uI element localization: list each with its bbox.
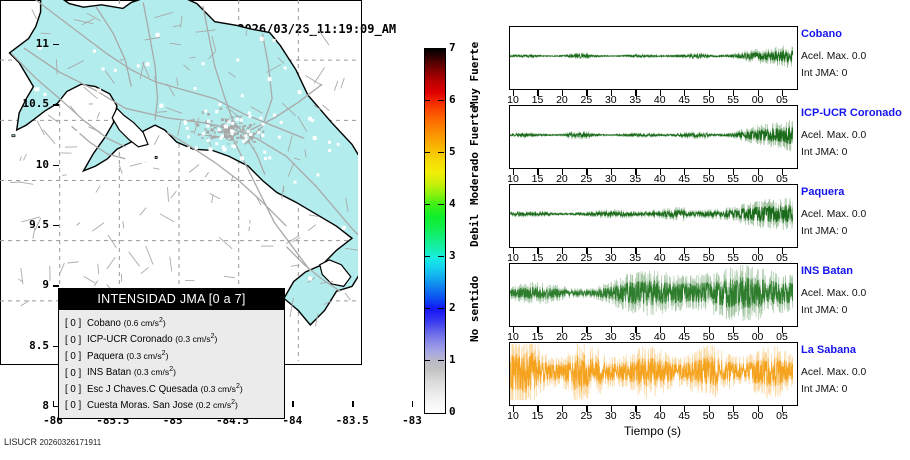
map-urban-cell <box>211 137 214 139</box>
map-station-marker[interactable] <box>206 244 210 248</box>
map-station-marker[interactable] <box>219 199 223 203</box>
map-urban-cell <box>253 141 256 143</box>
legend-intensity-index: [ 0 ] <box>65 334 87 347</box>
map-station-marker[interactable] <box>215 110 218 113</box>
seismogram-panel[interactable] <box>509 342 798 406</box>
legend-title: INTENSIDAD JMA [0 a 7] <box>59 289 284 310</box>
map-road <box>171 191 176 198</box>
map-station-marker[interactable] <box>218 103 221 106</box>
legend-station-row: [ 0 ]INS Batan (0.3 cm/s2) <box>65 363 278 379</box>
colorbar-tick-mark <box>438 360 444 361</box>
map-station-marker[interactable] <box>253 14 256 17</box>
map-urban-cell <box>232 137 234 140</box>
map-urban-cell <box>221 118 224 121</box>
colorbar-tick-label: 1 <box>449 353 456 366</box>
colorbar-category-label: Fuerte <box>468 107 481 147</box>
map-road <box>98 264 99 275</box>
map-y-tick-mark <box>53 165 59 166</box>
map-urban-cell <box>227 144 229 145</box>
map-station-marker[interactable] <box>172 240 176 244</box>
map-road <box>219 237 232 249</box>
map-station-marker[interactable] <box>202 194 205 197</box>
seismogram-trace <box>510 343 793 401</box>
map-station-marker[interactable] <box>220 137 223 140</box>
map-road <box>41 33 51 34</box>
map-urban-cell <box>235 116 238 117</box>
map-urban-cell <box>225 130 228 132</box>
map-station-marker[interactable] <box>222 145 225 148</box>
map-station-marker[interactable] <box>291 37 295 41</box>
map-station-marker[interactable] <box>308 117 312 121</box>
map-urban-cell <box>247 127 250 129</box>
map-road <box>318 30 329 46</box>
map-station-marker[interactable] <box>187 147 190 150</box>
legend-paren-close: ) <box>215 335 218 345</box>
map-urban-cell <box>190 120 193 122</box>
map-station-marker[interactable] <box>280 121 283 124</box>
seismogram-station-name[interactable]: Cobano <box>801 28 842 40</box>
legend-acceleration: (0.3 cm/s <box>134 368 169 378</box>
seismogram-jma-intensity: Int JMA: 0 <box>801 226 847 237</box>
map-road <box>108 235 116 248</box>
map-station-marker[interactable] <box>146 62 150 66</box>
seismogram-max-acceleration: Acel. Max. 0.0 <box>801 288 866 299</box>
map-urban-cell <box>197 135 200 136</box>
map-station-marker[interactable] <box>181 177 185 181</box>
map-urban-cell <box>230 125 232 128</box>
colorbar-tick-mark <box>424 256 430 257</box>
map-station-marker[interactable] <box>337 143 340 146</box>
colorbar-tick-mark <box>438 256 444 257</box>
map-urban-cell <box>234 125 236 127</box>
seismogram-panel[interactable] <box>509 263 798 327</box>
seismogram-jma-intensity: Int JMA: 0 <box>801 305 847 316</box>
map-station-marker[interactable] <box>247 16 250 19</box>
map-urban-cell <box>231 117 234 119</box>
map-y-tick-mark <box>53 225 59 226</box>
legend-paren-close: ) <box>173 368 176 378</box>
map-station-marker[interactable] <box>263 151 266 154</box>
map-station-marker[interactable] <box>125 268 129 272</box>
map-station-marker[interactable] <box>195 147 198 150</box>
map-island <box>155 156 157 158</box>
map-station-marker[interactable] <box>131 128 134 131</box>
legend-station-row: [ 0 ]Cobano (0.6 cm/s2) <box>65 314 278 330</box>
map-urban-cell <box>228 135 229 137</box>
map-station-marker[interactable] <box>242 140 245 143</box>
seismogram-jma-intensity: Int JMA: 0 <box>801 384 847 395</box>
map-urban-cell <box>225 132 228 133</box>
map-urban-cell <box>202 111 204 114</box>
map-station-marker[interactable] <box>44 93 47 96</box>
map-urban-cell <box>253 133 255 135</box>
seismogram-max-acceleration: Acel. Max. 0.0 <box>801 367 866 378</box>
map-station-marker[interactable] <box>204 110 207 113</box>
legend-station-row: [ 0 ]Cuesta Moras. San Jose (0.2 cm/s2) <box>65 396 278 412</box>
map-station-marker[interactable] <box>328 149 331 152</box>
map-road <box>308 225 316 231</box>
map-station-marker[interactable] <box>156 33 160 37</box>
legend-station-name: Cuesta Moras. San Jose <box>87 400 196 411</box>
map-station-marker[interactable] <box>268 156 271 159</box>
map-urban-cell <box>251 138 253 141</box>
map-road <box>224 276 235 278</box>
map-station-marker[interactable] <box>264 157 267 160</box>
map-urban-cell <box>214 131 216 134</box>
map-station-marker[interactable] <box>93 50 96 53</box>
map-road <box>123 221 124 228</box>
map-road <box>92 223 104 231</box>
seismogram-time-axis: 101520253035404550550005 <box>509 169 796 185</box>
map-urban-cell <box>220 108 223 110</box>
map-urban-cell <box>228 139 230 140</box>
map-station-marker[interactable] <box>247 130 250 133</box>
map-urban-cell <box>262 131 264 133</box>
map-station-marker[interactable] <box>342 226 346 230</box>
map-station-marker[interactable] <box>78 206 81 209</box>
map-station-marker[interactable] <box>36 140 39 143</box>
map-station-marker[interactable] <box>338 45 341 48</box>
legend-station-name: INS Batan <box>87 368 134 379</box>
legend-station-name: Esc J Chaves.C Quesada <box>87 384 201 395</box>
map-urban-cell <box>243 129 245 132</box>
seismogram-panel[interactable] <box>509 105 798 169</box>
map-station-marker[interactable] <box>241 94 244 97</box>
map-road <box>140 208 147 216</box>
map-station-marker[interactable] <box>209 147 213 151</box>
map-station-marker[interactable] <box>278 136 281 139</box>
map-station-marker[interactable] <box>328 141 331 144</box>
map-station-marker[interactable] <box>236 118 239 121</box>
map-road <box>107 257 116 269</box>
map-urban-cell <box>234 143 235 144</box>
map-station-marker[interactable] <box>284 249 287 252</box>
map-station-marker[interactable] <box>202 62 205 65</box>
colorbar-tick-mark <box>424 100 430 101</box>
colorbar-tick-mark <box>438 152 444 153</box>
map-urban-cell <box>201 137 204 138</box>
map-station-marker[interactable] <box>34 87 38 91</box>
map-station-marker[interactable] <box>73 269 77 273</box>
map-station-marker[interactable] <box>236 59 239 62</box>
seismogram-trace <box>510 27 793 85</box>
legend-intensity-index: [ 0 ] <box>65 350 87 363</box>
map-x-tick-label: -83.5 <box>322 414 382 427</box>
map-road <box>210 193 221 199</box>
map-station-marker[interactable] <box>298 90 302 94</box>
map-station-marker[interactable] <box>294 181 297 184</box>
map-urban-cell <box>207 113 210 116</box>
map-station-marker[interactable] <box>215 142 218 145</box>
legend-paren-close: ) <box>240 384 243 394</box>
map-road <box>129 252 140 266</box>
map-urban-cell <box>209 135 212 137</box>
seismogram-panel[interactable] <box>509 184 798 248</box>
map-urban-cell <box>213 136 216 139</box>
seismogram-time-axis: 101520253035404550550005 <box>509 90 796 106</box>
map-urban-cell <box>236 137 239 139</box>
map-station-marker[interactable] <box>207 139 210 142</box>
seismogram-max-acceleration: Acel. Max. 0.0 <box>801 130 866 141</box>
seismogram-jma-intensity: Int JMA: 0 <box>801 68 847 79</box>
seismogram-station-name[interactable]: ICP-UCR Coronado <box>801 107 902 119</box>
map-station-marker[interactable] <box>248 224 251 227</box>
map-station-marker[interactable] <box>302 27 305 30</box>
map-urban-cell <box>206 131 209 134</box>
map-road <box>205 172 209 177</box>
map-station-marker[interactable] <box>260 117 263 120</box>
seismogram-time-axis: 101520253035404550550005 <box>509 248 796 264</box>
map-station-marker[interactable] <box>262 123 265 126</box>
legend-acceleration: (0.3 cm/s <box>201 384 236 394</box>
map-urban-cell <box>242 132 244 133</box>
map-road <box>160 214 174 222</box>
map-urban-cell <box>222 129 225 131</box>
time-axis-label: Tiempo (s) <box>509 424 796 438</box>
map-urban-cell <box>210 124 213 127</box>
map-station-marker[interactable] <box>248 112 251 115</box>
map-station-marker[interactable] <box>240 156 244 160</box>
map-station-marker[interactable] <box>106 172 109 175</box>
map-station-marker[interactable] <box>249 133 252 136</box>
map-road <box>293 238 300 242</box>
map-y-tick-label: 9 <box>0 278 49 291</box>
map-station-marker[interactable] <box>257 131 260 134</box>
map-road <box>154 135 159 145</box>
map-urban-cell <box>229 135 230 137</box>
seismogram-max-acceleration: Acel. Max. 0.0 <box>801 209 866 220</box>
map-station-marker[interactable] <box>249 115 252 118</box>
map-x-tick-label: -83 <box>382 414 442 427</box>
map-urban-cell <box>205 128 207 130</box>
map-station-marker[interactable] <box>206 208 209 211</box>
map-station-marker[interactable] <box>76 131 80 135</box>
map-station-marker[interactable] <box>308 277 312 281</box>
map-station-marker[interactable] <box>43 116 46 119</box>
intensity-legend: INTENSIDAD JMA [0 a 7] [ 0 ]Cobano (0.6 … <box>58 288 285 419</box>
map-station-marker[interactable] <box>224 124 228 128</box>
map-urban-cell <box>224 135 226 136</box>
map-urban-cell <box>193 119 195 121</box>
map-station-marker[interactable] <box>206 125 209 128</box>
map-station-marker[interactable] <box>312 36 315 39</box>
map-station-marker[interactable] <box>202 132 205 135</box>
legend-intensity-index: [ 0 ] <box>65 383 87 396</box>
map-station-marker[interactable] <box>273 39 276 42</box>
colorbar-tick-mark <box>438 204 444 205</box>
map-urban-cell <box>245 133 247 134</box>
colorbar-tick-label: 5 <box>449 145 456 158</box>
map-station-marker[interactable] <box>335 114 338 117</box>
map-island <box>12 135 15 137</box>
map-urban-cell <box>239 123 243 124</box>
map-urban-cell <box>221 124 223 126</box>
map-urban-cell <box>236 126 238 129</box>
map-station-marker[interactable] <box>284 204 287 207</box>
seismogram-station-name[interactable]: La Sabana <box>801 344 856 356</box>
map-y-tick-label: 10 <box>0 158 49 171</box>
colorbar-tick-label: 6 <box>449 93 456 106</box>
legend-acceleration: (0.3 cm/s <box>126 351 161 361</box>
seismogram-trace <box>510 185 793 243</box>
map-urban-cell <box>229 117 230 118</box>
map-urban-cell <box>253 147 254 148</box>
legend-station-row: [ 0 ]ICP-UCR Coronado (0.3 cm/s2) <box>65 330 278 346</box>
map-station-marker[interactable] <box>268 77 272 81</box>
map-station-marker[interactable] <box>184 120 187 123</box>
seismogram-panel[interactable] <box>509 26 798 90</box>
map-station-marker[interactable] <box>142 162 145 165</box>
map-station-marker[interactable] <box>159 104 163 108</box>
legend-station-name: Cobano <box>87 318 124 329</box>
map-station-marker[interactable] <box>245 138 248 141</box>
map-station-marker[interactable] <box>316 173 319 176</box>
seismogram-station-name[interactable]: INS Batan <box>801 265 853 277</box>
map-y-tick-label: 10.5 <box>0 97 49 110</box>
map-road <box>88 127 100 133</box>
map-road <box>68 262 79 263</box>
footer-timestamp: 20260326171911 <box>40 438 102 447</box>
map-station-marker[interactable] <box>313 136 317 140</box>
map-station-marker[interactable] <box>231 132 234 135</box>
colorbar-tick-mark <box>424 152 430 153</box>
map-road <box>96 186 100 193</box>
legend-station-name: Paquera <box>87 351 126 362</box>
map-station-marker[interactable] <box>158 209 161 212</box>
map-station-marker[interactable] <box>302 47 305 50</box>
legend-acceleration: (0.6 cm/s <box>124 318 159 328</box>
colorbar-tick-mark <box>424 308 430 309</box>
map-urban-cell <box>236 134 239 135</box>
map-station-marker[interactable] <box>231 145 234 148</box>
map-station-marker[interactable] <box>321 19 324 22</box>
map-x-tick-mark <box>292 401 293 407</box>
map-urban-cell <box>195 123 197 124</box>
colorbar-category-label: No sentido <box>468 276 481 342</box>
legend-acceleration: (0.3 cm/s <box>175 335 210 345</box>
map-urban-cell <box>211 120 213 122</box>
map-road <box>62 175 66 176</box>
map-y-tick-mark <box>53 285 59 286</box>
legend-station-row: [ 0 ]Esc J Chaves.C Quesada (0.3 cm/s2) <box>65 380 278 396</box>
map-y-tick-label: 9.5 <box>0 218 49 231</box>
map-urban-cell <box>248 140 251 143</box>
map-station-marker[interactable] <box>65 204 68 207</box>
map-urban-cell <box>191 131 194 132</box>
map-station-marker[interactable] <box>80 203 83 206</box>
map-station-marker[interactable] <box>114 69 117 72</box>
legend-intensity-index: [ 0 ] <box>65 399 87 412</box>
map-station-marker[interactable] <box>231 122 234 125</box>
map-y-tick-label: 8 <box>0 399 49 412</box>
map-station-marker[interactable] <box>97 89 101 93</box>
map-station-marker[interactable] <box>273 114 276 117</box>
map-road <box>153 168 159 169</box>
time-tick-label: 05 <box>767 410 797 422</box>
map-road <box>314 68 325 84</box>
map-station-marker[interactable] <box>228 121 231 124</box>
map-urban-cell <box>216 136 219 138</box>
seismogram-station-name[interactable]: Paquera <box>801 186 844 198</box>
map-road <box>141 267 149 273</box>
map-road <box>170 257 172 272</box>
map-station-marker[interactable] <box>102 68 105 71</box>
map-road <box>189 165 199 173</box>
map-station-marker[interactable] <box>43 135 46 138</box>
map-urban-cell <box>215 125 217 126</box>
map-station-marker[interactable] <box>284 67 287 70</box>
legend-intensity-index: [ 0 ] <box>65 317 87 330</box>
map-station-marker[interactable] <box>244 134 247 137</box>
seismogram-time-axis: 101520253035404550550005 <box>509 327 796 343</box>
map-y-tick-label: 8.5 <box>0 339 49 352</box>
map-station-marker[interactable] <box>338 34 341 37</box>
map-station-marker[interactable] <box>342 301 345 304</box>
map-station-marker[interactable] <box>68 208 71 211</box>
colorbar-tick-mark <box>438 100 444 101</box>
map-station-marker[interactable] <box>121 193 124 196</box>
map-road <box>32 9 37 19</box>
map-road <box>341 78 344 89</box>
map-station-marker[interactable] <box>261 134 264 137</box>
legend-paren-close: ) <box>235 400 238 410</box>
map-station-marker[interactable] <box>81 147 84 150</box>
map-road <box>84 87 98 99</box>
map-x-tick-mark <box>412 401 413 407</box>
colorbar-tick-label: 3 <box>449 249 456 262</box>
map-station-marker[interactable] <box>218 128 221 131</box>
map-station-marker[interactable] <box>260 37 264 41</box>
map-road <box>84 276 96 283</box>
map-station-marker[interactable] <box>137 64 140 67</box>
legend-paren-close: ) <box>166 351 169 361</box>
map-station-marker[interactable] <box>34 145 37 148</box>
seismogram-jma-intensity: Int JMA: 0 <box>801 147 847 158</box>
map-station-marker[interactable] <box>74 155 77 158</box>
map-urban-cell <box>249 136 252 139</box>
map-station-marker[interactable] <box>240 164 243 167</box>
map-road <box>345 293 350 300</box>
map-urban-cell <box>239 126 240 129</box>
map-road <box>77 223 80 226</box>
map-station-marker[interactable] <box>240 119 243 122</box>
colorbar-category-label: Moderado <box>468 152 481 205</box>
map-station-marker[interactable] <box>18 13 21 16</box>
colorbar-category-label: Debil <box>468 214 481 247</box>
seismogram-max-acceleration: Acel. Max. 0.0 <box>801 51 866 62</box>
map-station-marker[interactable] <box>214 264 218 268</box>
colorbar-tick-label: 0 <box>449 405 456 418</box>
map-urban-cell <box>221 127 225 129</box>
map-urban-cell <box>239 116 242 117</box>
map-road <box>146 246 153 264</box>
legend-intensity-index: [ 0 ] <box>65 367 87 380</box>
map-y-tick-mark <box>53 104 59 105</box>
map-urban-cell <box>254 123 256 125</box>
map-station-marker[interactable] <box>17 17 20 20</box>
colorbar-tick-label: 2 <box>449 301 456 314</box>
map-urban-cell <box>236 141 237 144</box>
map-station-marker[interactable] <box>186 127 189 130</box>
map-y-tick-mark <box>53 44 59 45</box>
map-y-tick-label: 11 <box>0 37 49 50</box>
map-station-marker[interactable] <box>187 135 190 138</box>
footer-credit: LISUCR 20260326171911 <box>4 437 101 447</box>
map-station-marker[interactable] <box>207 120 210 123</box>
colorbar-tick-mark <box>424 360 430 361</box>
colorbar-tick-label: 7 <box>449 41 456 54</box>
map-station-marker[interactable] <box>194 87 197 90</box>
